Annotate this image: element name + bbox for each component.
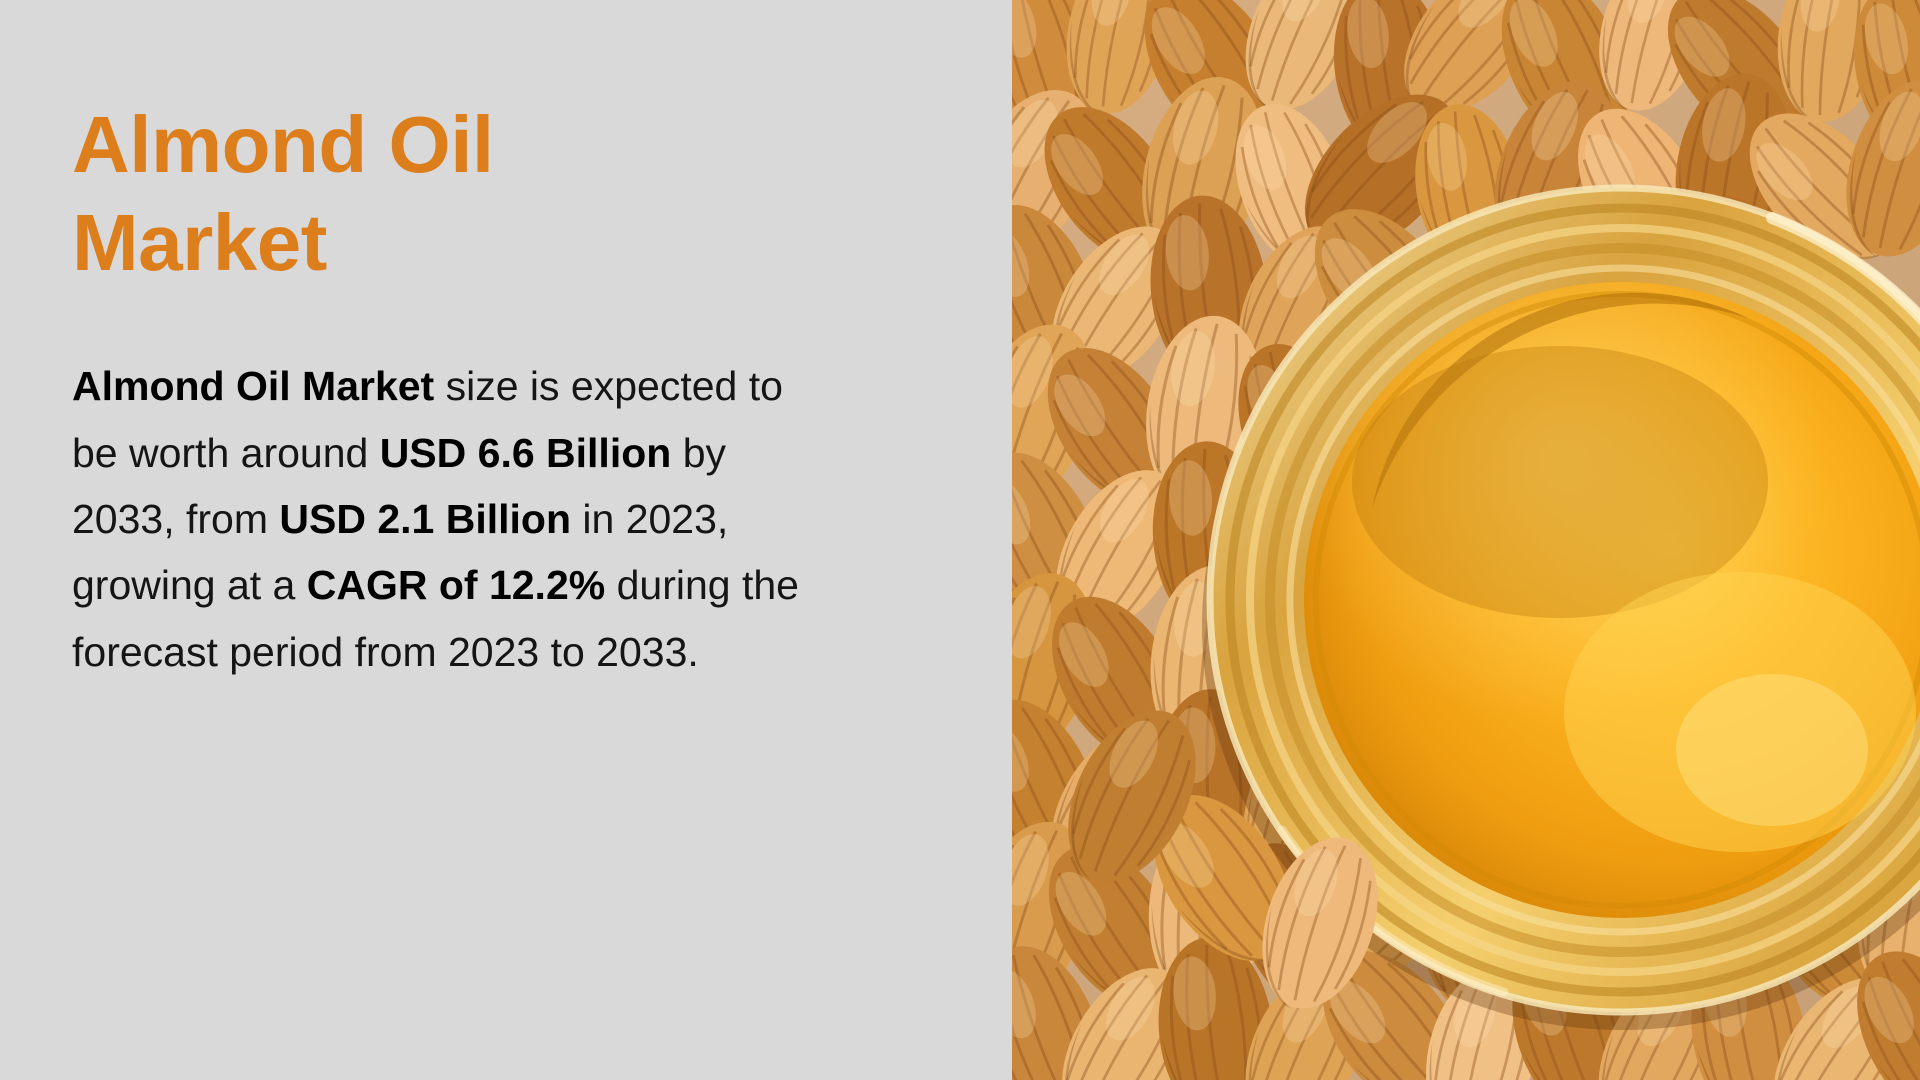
page-title-line-1: Almond Oil (72, 100, 494, 189)
market-summary-paragraph: Almond Oil Market size is expected to be… (72, 291, 812, 685)
summary-market-name: Almond Oil Market (72, 363, 434, 409)
summary-base-value: USD 2.1 Billion (279, 496, 571, 542)
almond-oil-photo (1012, 0, 1920, 1080)
almond-oil-illustration (1012, 0, 1920, 1080)
page-title: Almond Oil Market (72, 0, 712, 291)
almond-oil-market-banner: Almond Oil Market Almond Oil Market size… (0, 0, 1920, 1080)
page-title-line-2: Market (72, 198, 327, 287)
summary-cagr: CAGR of 12.2% (307, 562, 605, 608)
text-panel: Almond Oil Market Almond Oil Market size… (0, 0, 1012, 1080)
summary-forecast-value: USD 6.6 Billion (380, 430, 672, 476)
